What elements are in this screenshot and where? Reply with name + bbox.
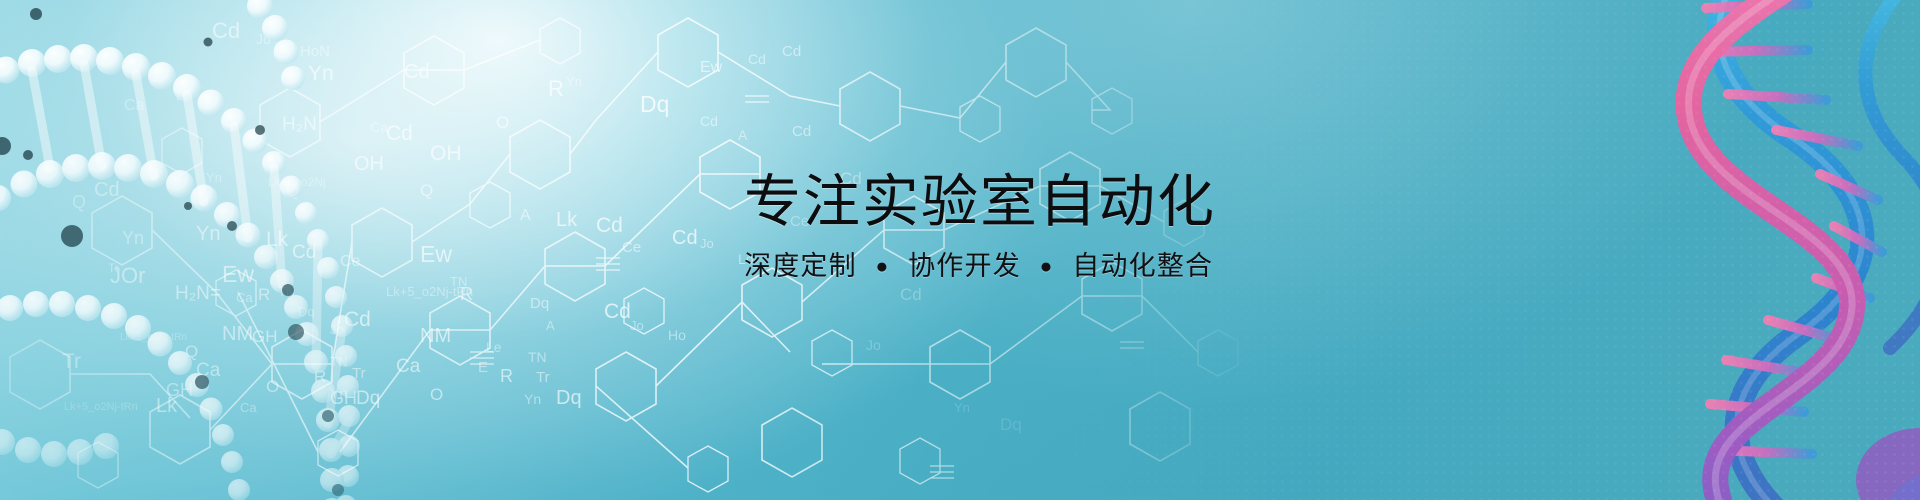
svg-text:Lk+5_o2Nj-tRn: Lk+5_o2Nj-tRn bbox=[386, 284, 473, 299]
svg-text:Ca: Ca bbox=[124, 97, 145, 114]
svg-text:Cd: Cd bbox=[386, 122, 413, 145]
svg-text:R: R bbox=[258, 285, 270, 304]
svg-text:Yn: Yn bbox=[308, 62, 334, 85]
svg-text:Q: Q bbox=[185, 342, 198, 361]
svg-text:Jo: Jo bbox=[630, 318, 644, 333]
svg-text:Ho: Ho bbox=[668, 327, 686, 343]
svg-text:Dq: Dq bbox=[556, 387, 582, 409]
svg-text:Yn: Yn bbox=[954, 400, 970, 415]
svg-text:Dq: Dq bbox=[640, 91, 669, 117]
svg-text:R: R bbox=[314, 367, 326, 386]
svg-text:Ca: Ca bbox=[396, 356, 421, 377]
svg-text:Yn: Yn bbox=[566, 74, 582, 89]
svg-text:Ce: Ce bbox=[622, 239, 641, 256]
svg-text:GH: GH bbox=[166, 380, 193, 400]
svg-text:Cd: Cd bbox=[700, 113, 718, 129]
svg-text:Tr: Tr bbox=[352, 365, 366, 382]
svg-text:A: A bbox=[546, 318, 555, 333]
svg-text:Lk+5_o2Nj-tRn: Lk+5_o2Nj-tRn bbox=[120, 332, 187, 343]
svg-text:Dq: Dq bbox=[530, 295, 549, 312]
svg-text:OH: OH bbox=[354, 153, 384, 175]
svg-text:Cd: Cd bbox=[604, 300, 631, 323]
svg-text:E: E bbox=[478, 359, 488, 376]
svg-text:Ew: Ew bbox=[222, 261, 254, 287]
svg-text:Cd: Cd bbox=[672, 227, 698, 249]
svg-text:Ew: Ew bbox=[420, 241, 452, 267]
svg-text:Yn: Yn bbox=[122, 228, 144, 248]
dna-double-helix-white bbox=[0, 0, 760, 500]
banner-copy: 专注实验室自动化 深度定制 ● 协作开发 ● 自动化整合 bbox=[744, 172, 1444, 283]
svg-text:Cd: Cd bbox=[596, 214, 623, 237]
svg-text:Lk+5_o2Nj: Lk+5_o2Nj bbox=[268, 175, 326, 189]
svg-text:Ew: Ew bbox=[700, 59, 723, 76]
svg-text:Yn: Yn bbox=[524, 391, 541, 407]
svg-text:Cd: Cd bbox=[748, 51, 766, 67]
svg-text:R: R bbox=[548, 76, 564, 101]
svg-text:Cd: Cd bbox=[212, 18, 240, 43]
svg-text:TN: TN bbox=[450, 274, 467, 289]
svg-text:Cd: Cd bbox=[900, 285, 922, 304]
svg-text:O: O bbox=[430, 385, 443, 404]
svg-text:Jo: Jo bbox=[700, 236, 714, 251]
svg-text:Cd: Cd bbox=[344, 308, 371, 331]
svg-text:O: O bbox=[496, 113, 509, 132]
svg-text:OH: OH bbox=[430, 142, 462, 165]
svg-text:Jo: Jo bbox=[866, 337, 881, 353]
svg-text:Jo: Jo bbox=[256, 31, 271, 47]
subtitle-separator-2: ● bbox=[1040, 254, 1054, 279]
svg-text:R: R bbox=[176, 87, 188, 104]
svg-text:GH: GH bbox=[330, 388, 357, 408]
svg-text:H₂N: H₂N bbox=[282, 114, 317, 135]
svg-text:Q: Q bbox=[72, 192, 86, 212]
svg-text:HoN: HoN bbox=[300, 43, 330, 60]
svg-text:Ca: Ca bbox=[370, 119, 388, 135]
svg-text:Le: Le bbox=[486, 339, 502, 355]
svg-text:Yn: Yn bbox=[330, 385, 347, 401]
svg-text:Ca: Ca bbox=[240, 400, 257, 415]
svg-text:Cd: Cd bbox=[404, 61, 430, 83]
banner-subtitle: 深度定制 ● 协作开发 ● 自动化整合 bbox=[744, 250, 1444, 282]
svg-text:Lk: Lk bbox=[266, 228, 289, 251]
dna-double-helix-colored bbox=[1490, 0, 1920, 500]
svg-text:Jo: Jo bbox=[330, 322, 344, 337]
svg-text:R: R bbox=[460, 284, 473, 304]
svg-text:Dq: Dq bbox=[356, 388, 380, 409]
svg-text:A: A bbox=[738, 127, 748, 143]
svg-text:Dq: Dq bbox=[298, 304, 315, 319]
subtitle-separator-1: ● bbox=[876, 254, 890, 279]
svg-text:GH: GH bbox=[252, 327, 278, 346]
svg-text:Yn: Yn bbox=[206, 170, 222, 185]
svg-text:Lk+5_o2Nj-tRn: Lk+5_o2Nj-tRn bbox=[64, 401, 138, 413]
subtitle-item-2: 协作开发 bbox=[908, 251, 1021, 281]
svg-text:R: R bbox=[500, 366, 513, 386]
hero-banner: Tr Lk+5_o2Nj-tRn Lk+5_o2Nj-tRn Lk JOr Tr… bbox=[0, 0, 1920, 500]
svg-text:Cd: Cd bbox=[792, 123, 811, 140]
svg-text:Tr: Tr bbox=[62, 350, 81, 373]
svg-text:TN: TN bbox=[528, 349, 547, 365]
subtitle-item-1: 深度定制 bbox=[744, 251, 857, 281]
svg-text:NM: NM bbox=[420, 325, 451, 347]
svg-text:JOr: JOr bbox=[110, 263, 145, 288]
banner-headline: 专注实验室自动化 bbox=[744, 172, 1444, 232]
svg-text:A: A bbox=[520, 207, 531, 224]
svg-text:Cd: Cd bbox=[292, 242, 316, 263]
svg-text:Ce: Ce bbox=[340, 253, 361, 270]
svg-text:Q: Q bbox=[420, 181, 433, 200]
svg-text:NM: NM bbox=[222, 323, 253, 345]
svg-text:TN: TN bbox=[278, 284, 295, 299]
svg-text:Lk: Lk bbox=[556, 209, 578, 231]
svg-text:TN: TN bbox=[330, 354, 347, 369]
svg-text:Ca: Ca bbox=[236, 290, 253, 305]
svg-text:Q: Q bbox=[286, 181, 299, 200]
svg-text:Ca: Ca bbox=[196, 360, 221, 381]
svg-text:Cd: Cd bbox=[94, 179, 120, 201]
svg-text:Tr: Tr bbox=[108, 261, 119, 275]
svg-text:O: O bbox=[266, 377, 279, 396]
svg-text:Dq: Dq bbox=[1000, 415, 1022, 434]
svg-text:Yn: Yn bbox=[196, 223, 220, 245]
subtitle-item-3: 自动化整合 bbox=[1072, 251, 1213, 281]
svg-text:Tr: Tr bbox=[536, 369, 550, 386]
svg-text:H₂N=: H₂N= bbox=[175, 283, 221, 304]
svg-text:Cd: Cd bbox=[782, 43, 801, 60]
svg-text:Lk: Lk bbox=[156, 395, 178, 417]
